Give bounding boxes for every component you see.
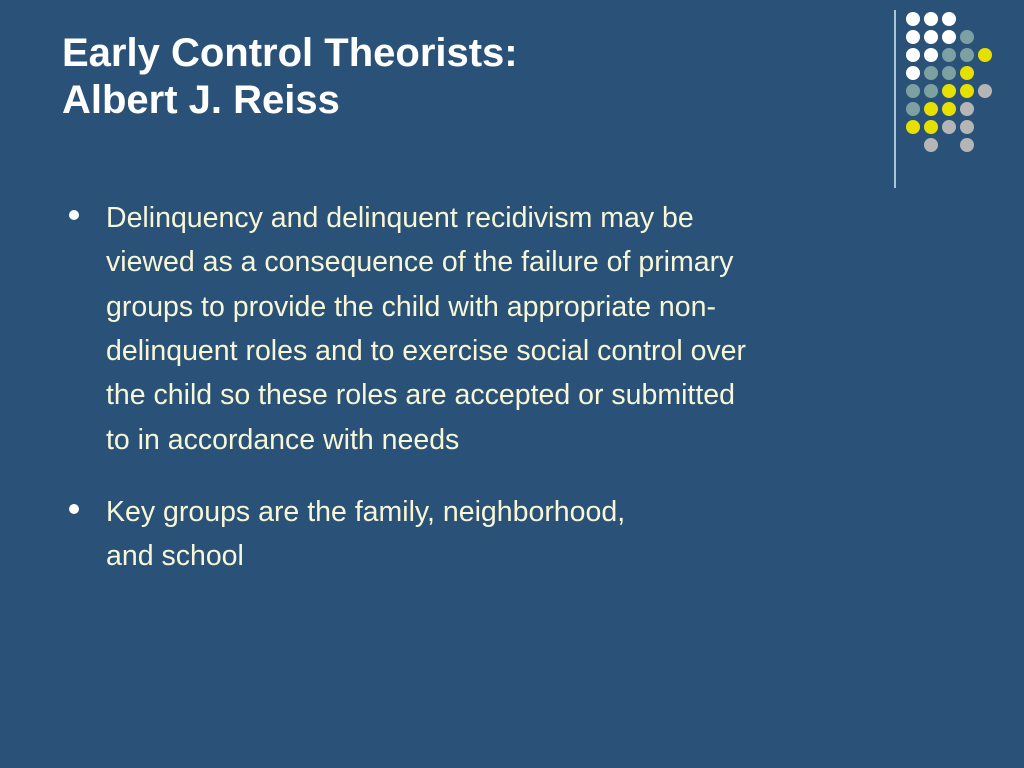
decoration-dot: [924, 48, 938, 62]
decoration-dot: [924, 102, 938, 116]
decoration-dot: [906, 30, 920, 44]
bullet-line: Delinquency and delinquent recidivism ma…: [106, 196, 962, 240]
bullet-item-1-text: Delinquency and delinquent recidivism ma…: [106, 196, 962, 462]
slide-title: Early Control Theorists: Albert J. Reiss: [62, 30, 852, 124]
bullet-dot-icon: [69, 504, 79, 514]
bullet-line: delinquent roles and to exercise social …: [106, 329, 962, 373]
decoration-dot: [960, 66, 974, 80]
decoration-dot: [924, 12, 938, 26]
vertical-rule-divider: [894, 10, 896, 188]
decoration-dot: [942, 30, 956, 44]
decoration-dot: [942, 84, 956, 98]
decoration-dot: [906, 102, 920, 116]
bullet-dot-icon: [69, 210, 79, 220]
bullet-item-2: Key groups are the family, neighborhood,…: [62, 490, 962, 579]
decoration-dot: [960, 84, 974, 98]
decoration-dot: [924, 30, 938, 44]
decoration-dot: [960, 138, 974, 152]
decoration-dot: [960, 48, 974, 62]
decoration-dot: [942, 12, 956, 26]
slide-title-line-1: Early Control Theorists:: [62, 30, 852, 77]
bullet-line: Key groups are the family, neighborhood,: [106, 490, 962, 534]
decoration-dot: [960, 120, 974, 134]
decoration-dot-grid: [880, 0, 1024, 200]
bullet-item-1: Delinquency and delinquent recidivism ma…: [62, 196, 962, 462]
decoration-dot: [924, 120, 938, 134]
bullet-item-2-text: Key groups are the family, neighborhood,…: [106, 490, 962, 579]
decoration-dot: [906, 84, 920, 98]
bullet-line: the child so these roles are accepted or…: [106, 373, 962, 417]
decoration-dot: [942, 120, 956, 134]
decoration-dot: [978, 84, 992, 98]
slide-canvas: Early Control Theorists: Albert J. Reiss…: [0, 0, 1024, 768]
decoration-dot: [978, 48, 992, 62]
dot-grid: [906, 12, 1016, 182]
decoration-dot: [924, 84, 938, 98]
decoration-dot: [906, 48, 920, 62]
slide-body: Delinquency and delinquent recidivism ma…: [62, 196, 962, 579]
decoration-dot: [942, 102, 956, 116]
bullet-line: viewed as a consequence of the failure o…: [106, 240, 962, 284]
bullet-line: and school: [106, 534, 962, 578]
decoration-dot: [906, 120, 920, 134]
bullet-line: groups to provide the child with appropr…: [106, 285, 962, 329]
decoration-dot: [960, 102, 974, 116]
decoration-dot: [906, 66, 920, 80]
decoration-dot: [942, 66, 956, 80]
decoration-dot: [924, 66, 938, 80]
slide-title-line-2: Albert J. Reiss: [62, 77, 852, 124]
decoration-dot: [942, 48, 956, 62]
decoration-dot: [960, 30, 974, 44]
bullet-line: to in accordance with needs: [106, 418, 962, 462]
decoration-dot: [924, 138, 938, 152]
decoration-dot: [906, 12, 920, 26]
